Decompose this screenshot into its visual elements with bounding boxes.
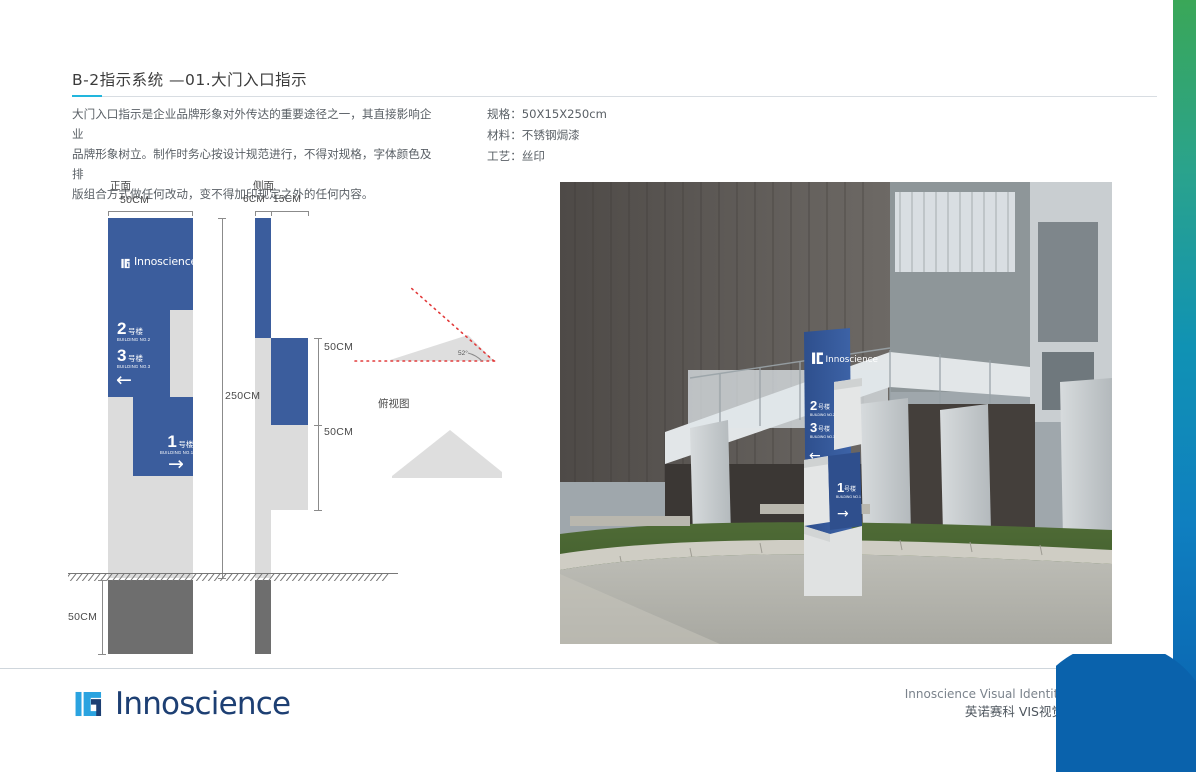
technical-drawing: 正面 侧面 50CM 6CM 15CM Innoscienc — [60, 168, 530, 648]
footer-logo-text: Innoscience — [115, 686, 290, 722]
svg-text:BUILDING NO.2: BUILDING NO.2 — [810, 413, 835, 417]
front-foundation-block — [108, 580, 193, 654]
dim-base-50cm: 50CM — [68, 611, 97, 623]
front-building-2-en: BUILDING NO.2 — [117, 337, 150, 343]
side-gray-block — [271, 425, 308, 510]
dim-side-15cm: 15CM — [273, 194, 301, 205]
footer-logo: Innoscience — [72, 686, 290, 722]
front-arrow-left-icon: ← — [116, 371, 132, 390]
dim-seg-lower-50cm: 50CM — [324, 426, 353, 438]
side-upper-pole — [255, 218, 271, 338]
front-building-3-number: 3 — [117, 347, 126, 364]
vis-manual-page: B-2指示系统 —01.大门入口指示 大门入口指示是企业品牌形象对外传达的重要途… — [0, 0, 1196, 772]
footer-corner-decoration — [1056, 654, 1196, 772]
front-building-1-cn: 号楼 — [178, 440, 193, 449]
svg-text:2: 2 — [810, 398, 817, 413]
svg-text:→: → — [837, 506, 849, 522]
dim-seg-upper-50cm: 50CM — [324, 341, 353, 353]
spec-process: 工艺：丝印 — [487, 146, 747, 167]
svg-text:号楼: 号楼 — [818, 403, 830, 411]
svg-text:BUILDING NO.3: BUILDING NO.3 — [810, 435, 835, 439]
side-view-label: 侧面 — [253, 178, 274, 193]
front-building-3: 3 号楼 BUILDING NO.3 — [117, 347, 150, 370]
front-building-2: 2 号楼 BUILDING NO.2 — [117, 320, 150, 343]
svg-text:52°: 52° — [458, 349, 468, 357]
front-arrow-right-icon: → — [168, 455, 184, 474]
innoscience-logo-icon — [120, 256, 131, 267]
dim-side-6cm: 6CM — [243, 194, 265, 205]
footer-divider — [0, 668, 1173, 669]
front-building-2-cn: 号楼 — [128, 327, 143, 336]
spec-size: 规格：50X15X250cm — [487, 104, 747, 125]
side-blue-block — [271, 338, 308, 425]
front-building-3-cn: 号楼 — [128, 354, 143, 363]
svg-text:3: 3 — [810, 420, 817, 435]
spec-list: 规格：50X15X250cm 材料：不锈钢焗漆 工艺：丝印 — [487, 104, 747, 167]
front-panel-logo-text: Innoscience — [134, 255, 197, 268]
header-accent-bar — [72, 95, 102, 97]
svg-text:号楼: 号楼 — [818, 425, 830, 433]
topview-angle-diagram: 52° — [350, 283, 530, 513]
page-header: B-2指示系统 —01.大门入口指示 — [72, 68, 1156, 90]
topview-label: 俯视图 — [378, 396, 410, 411]
svg-text:Innoscience: Innoscience — [826, 355, 878, 365]
svg-text:号楼: 号楼 — [844, 485, 856, 493]
header-divider — [72, 96, 1157, 97]
front-building-2-number: 2 — [117, 320, 126, 337]
installation-photo: Innoscience 2 号楼 BUILDING NO.2 3 号楼 BUIL… — [560, 182, 1112, 644]
innoscience-footer-logo-icon — [72, 687, 106, 721]
ground-hatch-line — [68, 573, 398, 581]
front-panel-logo: Innoscience — [120, 255, 197, 268]
dim-total-250cm: 250CM — [225, 390, 260, 402]
side-lower-pole — [255, 338, 271, 578]
front-view-label: 正面 — [110, 178, 131, 193]
front-building-1-number: 1 — [167, 433, 176, 450]
intro-line-1: 大门入口指示是企业品牌形象对外传达的重要途径之一，其直接影响企业 — [72, 104, 442, 144]
side-foundation-block — [255, 580, 271, 654]
dim-width-50cm: 50CM — [120, 194, 149, 206]
page-title: B-2指示系统 —01.大门入口指示 — [72, 68, 1156, 90]
svg-text:BUILDING NO.1: BUILDING NO.1 — [836, 495, 861, 499]
spec-material: 材料：不锈钢焗漆 — [487, 125, 747, 146]
